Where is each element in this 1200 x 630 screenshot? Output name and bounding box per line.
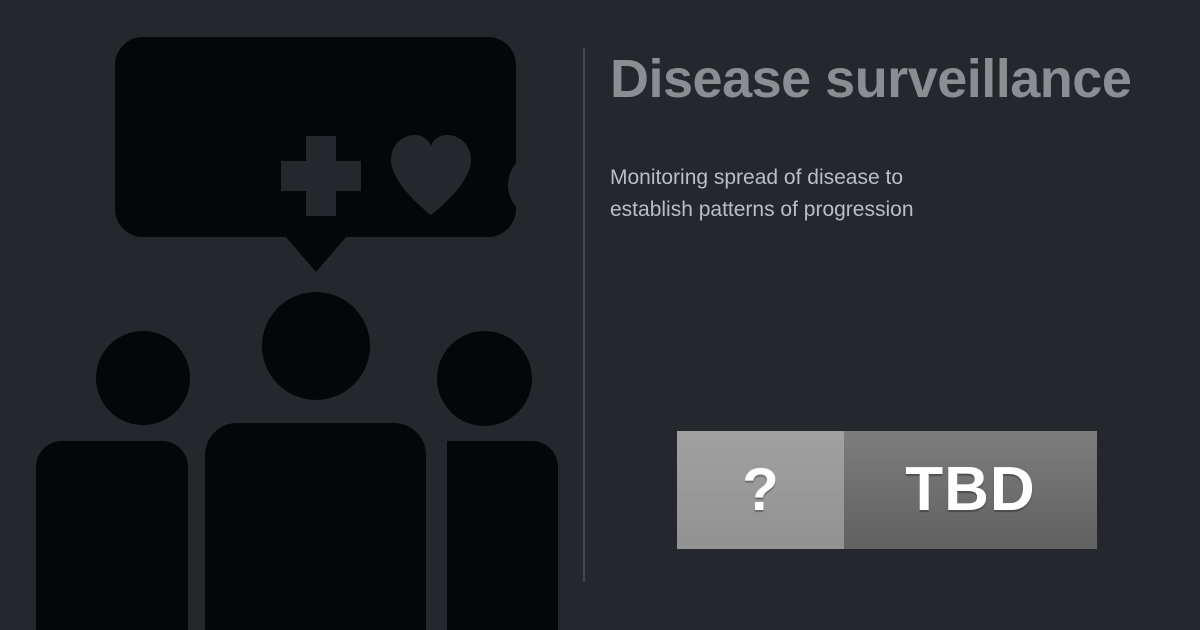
person-head-right — [437, 331, 532, 426]
person-body-right — [447, 441, 558, 630]
content-panel: Disease surveillance Monitoring spread o… — [610, 0, 1200, 630]
people-group-icon — [0, 0, 583, 630]
status-badge[interactable]: ? TBD — [677, 431, 1097, 549]
person-head-left — [96, 331, 190, 425]
page-title: Disease surveillance — [610, 48, 1131, 110]
community-health-illustration — [0, 0, 583, 630]
vertical-divider — [583, 48, 585, 582]
person-head-center — [262, 292, 370, 400]
person-body-left — [36, 441, 188, 630]
status-badge-right: TBD — [844, 431, 1097, 549]
person-body-center — [205, 423, 426, 630]
page-canvas: Disease surveillance Monitoring spread o… — [0, 0, 1200, 630]
status-badge-right-label: TBD — [905, 459, 1035, 521]
page-subtitle: Monitoring spread of disease to establis… — [610, 162, 960, 225]
status-badge-left: ? — [677, 431, 844, 549]
status-badge-left-label: ? — [742, 460, 779, 520]
